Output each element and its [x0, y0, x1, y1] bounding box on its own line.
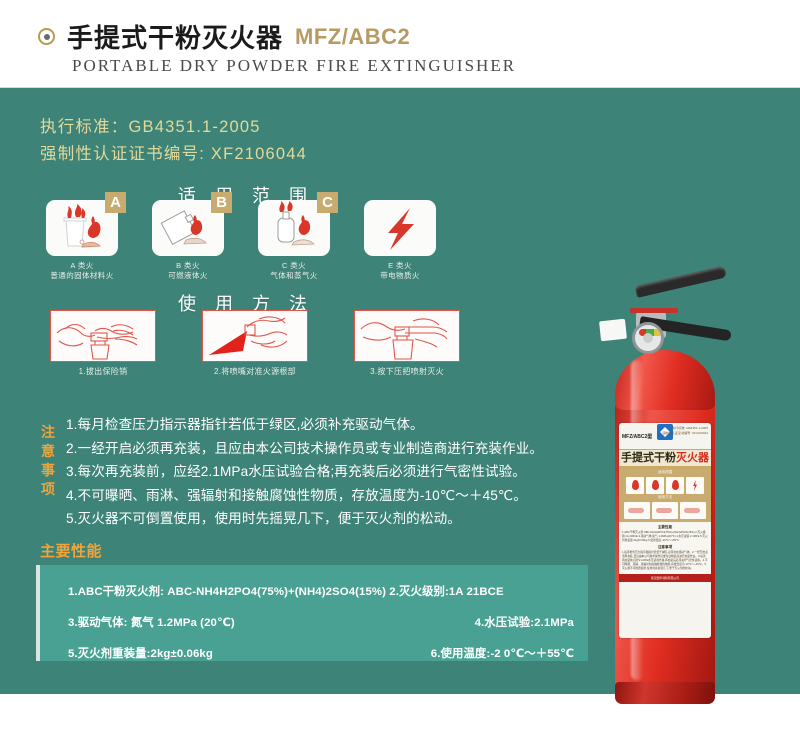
label-scope-icons [621, 477, 709, 494]
label-header: MFZ/ABC2型 执行标准: GB4351.1-2005 强制性认证证书编号:… [619, 423, 711, 449]
scope-class-a: A 类火 [50, 261, 113, 271]
label-perf-text: 1.ABC干粉灭火剂:ABC-NH4H2PO4(75%)+(NH4)2SO4(1… [622, 531, 708, 544]
caution-vertical-label: 注 意 事 项 [37, 423, 59, 499]
caution-item: 1.每月检查压力指示器指针若低于绿区,必须补充驱动气体。 [66, 413, 543, 437]
performance-panel: 1.ABC干粉灭火剂: ABC-NH4H2PO4(75%)+(NH4)2SO4(… [36, 565, 588, 661]
target-dot-icon [38, 28, 55, 45]
product-label: MFZ/ABC2型 执行标准: GB4351.1-2005 强制性认证证书编号:… [619, 423, 711, 638]
fire-extinguisher-photo: MFZ/ABC2型 执行标准: GB4351.1-2005 强制性认证证书编号:… [600, 278, 730, 738]
caution-item: 2.一经开启必须再充装，且应由本公司技术操作员或专业制造商进行充装作业。 [66, 437, 543, 461]
trash-can-fire-icon: A [46, 200, 118, 256]
scope-desc-e: 带电物质火 [380, 271, 420, 281]
performance-row-3-left: 5.灭火剂重装量:2kg±0.06kg [68, 645, 324, 661]
label-text-body: 主要性能 1.ABC干粉灭火剂:ABC-NH4H2PO4(75%)+(NH4)2… [619, 522, 711, 574]
extinguisher-collar [630, 308, 678, 313]
performance-section-title: 主要性能 [40, 540, 102, 561]
extinguisher-base [615, 682, 715, 704]
pull-pin-hand-icon [50, 310, 156, 362]
label-notice-text: 1.每月检查压力指示器指针若低于绿区,必须补充驱动气体。2.一经开启必须再充装,… [622, 551, 708, 572]
class-badge-a: A [105, 192, 126, 213]
performance-row-2-left: 3.驱动气体: 氮气 1.2MPa (20℃) [68, 614, 324, 630]
usage-step-3: 3.按下压把喷射灭火 [354, 310, 460, 377]
label-notice-heading: 注意事项 [622, 545, 708, 550]
class-badge-c: C [317, 192, 338, 213]
scope-desc-b: 可燃液体火 [168, 271, 208, 281]
certificate-number: 强制性认证证书编号: XF2106044 [40, 141, 307, 168]
hang-tag [599, 319, 627, 342]
usage-step-2: 2.将喷嘴对准火源根部 [202, 310, 308, 377]
aim-nozzle-hand-icon [202, 310, 308, 362]
label-scope-section: 适用范围 使用方法 [619, 467, 711, 522]
label-usage-step-1-icon [624, 502, 650, 519]
spilled-can-fire-icon: B [152, 200, 224, 256]
class-badge-b: B [211, 192, 232, 213]
scope-class-e: E 类火 [380, 261, 420, 271]
squeeze-handle-icon [635, 265, 727, 297]
scope-item-c: C C 类火 气体和蒸气火 [252, 200, 336, 281]
class-c-fire-icon [666, 477, 684, 494]
label-usage-heading: 使用方法 [621, 495, 709, 500]
page-title: 手提式干粉灭火器 [67, 18, 283, 55]
pressure-gauge-icon [632, 322, 664, 354]
usage-caption-1: 1.拔出保险销 [50, 366, 156, 377]
class-a-fire-icon [626, 477, 644, 494]
label-cert: 强制性认证证书编号: XF2106044 [662, 431, 708, 436]
caution-char-3: 事 [37, 461, 59, 480]
label-codes: 执行标准: GB4351.1-2005 强制性认证证书编号: XF2106044 [662, 426, 708, 436]
poster-root: 手提式干粉灭火器 MFZ/ABC2 PORTABLE DRY POWDER FI… [0, 0, 800, 694]
header-title-row: 手提式干粉灭火器 MFZ/ABC2 [38, 18, 410, 55]
scope-item-b: B B 类火 可燃液体火 [146, 200, 230, 281]
page-subtitle-en: PORTABLE DRY POWDER FIRE EXTINGUISHER [72, 56, 516, 76]
label-perf-heading: 主要性能 [622, 525, 708, 530]
label-scope-heading: 适用范围 [621, 470, 709, 475]
caution-char-2: 意 [37, 442, 59, 461]
label-title-black: 手提式干粉 [621, 452, 676, 464]
label-model: MFZ/ABC2型 [622, 434, 652, 440]
extinguisher-shoulder [615, 350, 715, 410]
performance-row-3-right: 6.使用温度:-2 0℃～＋55℃ [324, 645, 580, 661]
label-usage-step-2-icon [652, 502, 678, 519]
usage-caption-3: 3.按下压把喷射灭火 [354, 366, 460, 377]
lightning-bolt-icon [364, 200, 436, 256]
poster-body: 执行标准：GB4351.1-2005 强制性认证证书编号: XF2106044 … [0, 88, 800, 694]
usage-icon-row: 1.拔出保险销 2.将喷嘴对准火源根部 [50, 310, 460, 377]
scope-icon-row: A A 类火 普通的固体材料火 [40, 200, 442, 281]
label-title-red: 灭火器 [676, 452, 709, 464]
class-e-fire-icon [686, 477, 704, 494]
performance-row-1: 1.ABC干粉灭火剂: ABC-NH4H2PO4(75%)+(NH4)2SO4(… [68, 583, 580, 599]
caution-item: 3.每次再充装前，应经2.1MPa水压试验合格;再充装后必须进行气密性试验。 [66, 460, 543, 484]
class-b-fire-icon [646, 477, 664, 494]
scope-desc-c: 气体和蒸气火 [270, 271, 317, 281]
scope-caption-c: C 类火 气体和蒸气火 [270, 261, 317, 281]
performance-grid: 1.ABC干粉灭火剂: ABC-NH4H2PO4(75%)+(NH4)2SO4(… [68, 583, 580, 661]
caution-item: 5.灭火器不可倒置使用，使用时先摇晃几下，便于灭火剂的松动。 [66, 507, 543, 531]
scope-desc-a: 普通的固体材料火 [50, 271, 113, 281]
scope-class-c: C 类火 [270, 261, 317, 271]
product-model: MFZ/ABC2 [295, 24, 410, 50]
scope-caption-e: E 类火 带电物质火 [380, 261, 420, 281]
execution-standard: 执行标准：GB4351.1-2005 [40, 114, 307, 141]
caution-char-1: 注 [37, 423, 59, 442]
caution-char-4: 项 [37, 480, 59, 499]
poster-header: 手提式干粉灭火器 MFZ/ABC2 PORTABLE DRY POWDER FI… [0, 0, 800, 88]
caution-item: 4.不可曝晒、雨淋、强辐射和接触腐蚀性物质，存放温度为-10℃～＋45℃。 [66, 484, 543, 508]
gas-cylinder-fire-icon: C [258, 200, 330, 256]
label-title: 手提式干粉灭火器 [619, 449, 711, 467]
usage-step-1: 1.拔出保险销 [50, 310, 156, 377]
scope-item-e: E 类火 带电物质火 [358, 200, 442, 281]
gauge-yellow-zone [654, 329, 663, 336]
label-usage-step-3-icon [680, 502, 706, 519]
scope-item-a: A A 类火 普通的固体材料火 [40, 200, 124, 281]
performance-row-2-right: 4.水压试验:2.1MPa [324, 614, 580, 630]
usage-caption-2: 2.将喷嘴对准火源根部 [202, 366, 308, 377]
caution-list: 1.每月检查压力指示器指针若低于绿区,必须补充驱动气体。 2.一经开启必须再充装… [66, 413, 543, 531]
squeeze-lever-hand-icon [354, 310, 460, 362]
scope-caption-a: A 类火 普通的固体材料火 [50, 261, 113, 281]
scope-caption-b: B 类火 可燃液体火 [168, 261, 208, 281]
standards-block: 执行标准：GB4351.1-2005 强制性认证证书编号: XF2106044 [40, 114, 307, 168]
scope-class-b: B 类火 [168, 261, 208, 271]
label-usage-icons [621, 502, 709, 519]
label-manufacturer: 武汉国华消防有限公司 [619, 574, 711, 582]
